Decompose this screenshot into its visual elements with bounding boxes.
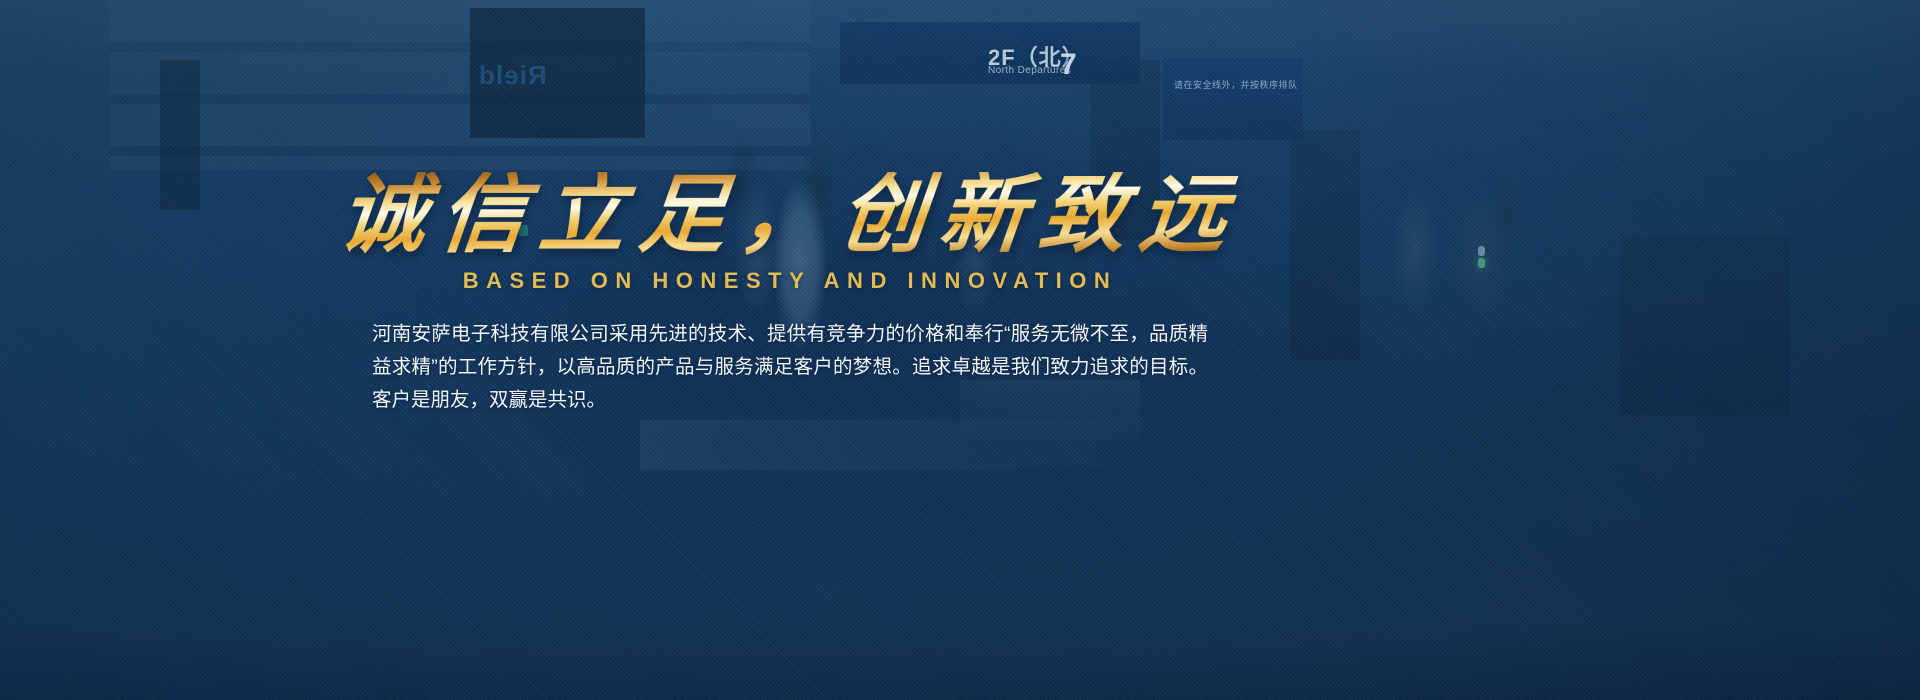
banner-body-copy: 河南安萨电子科技有限公司采用先进的技术、提供有竞争力的价格和奉行“服务无微不至，… xyxy=(372,318,1208,417)
banner-content: 诚信立足，创新致远 BASED ON HONESTY AND INNOVATIO… xyxy=(370,0,1210,700)
banner-body-paragraph: 河南安萨电子科技有限公司采用先进的技术、提供有竞争力的价格和奉行“服务无微不至，… xyxy=(372,318,1208,417)
banner-headline: 诚信立足，创新致远 xyxy=(370,160,1210,270)
machine-indicator-lamp-green xyxy=(1478,258,1485,268)
machine-indicator-lamp-white xyxy=(1478,246,1485,256)
banner-headline-text: 诚信立足，创新致远 xyxy=(335,172,1244,258)
hero-banner: Rield 2F（北） 7 North Departures 请在安全线外，并按… xyxy=(0,0,1920,700)
banner-subheadline: BASED ON HONESTY AND INNOVATION xyxy=(370,268,1210,294)
